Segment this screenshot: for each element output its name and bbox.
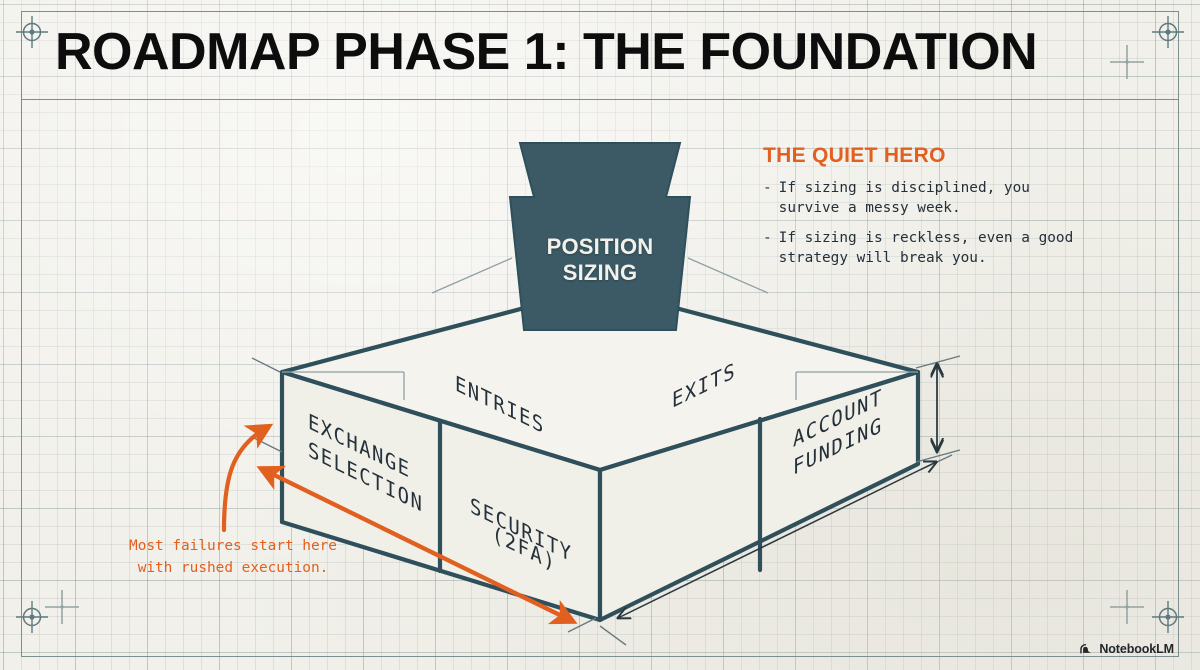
depth-extension-tick xyxy=(252,358,280,372)
upper-tier-group xyxy=(404,278,796,446)
note-bullet-2: - If sizing is reckless, even a good str… xyxy=(763,228,1098,269)
annotation-line-2: with rushed execution. xyxy=(98,558,368,580)
label-exchange-selection-1: EXCHANGE xyxy=(308,408,410,483)
base-tier-group xyxy=(282,288,918,620)
bullet-marker: - xyxy=(763,228,772,248)
note-bullet-1: - If sizing is disciplined, you survive … xyxy=(763,178,1098,219)
keystone-connector-left xyxy=(432,258,512,293)
failure-annotation: Most failures start here with rushed exe… xyxy=(98,536,368,579)
keystone-label-line1: POSITION xyxy=(505,234,695,260)
depth-extension-tick-2 xyxy=(254,438,282,452)
reg-top-left xyxy=(12,12,52,52)
label-exits: EXITS xyxy=(672,357,736,413)
width-dimension xyxy=(600,455,952,645)
quiet-hero-notes-panel: THE QUIET HERO - If sizing is discipline… xyxy=(763,144,1098,278)
height-dimension xyxy=(916,356,960,462)
label-entries: ENTRIES xyxy=(455,370,545,439)
notebooklm-spiral-icon xyxy=(1079,641,1094,656)
label-account-funding-2: FUNDING xyxy=(793,411,883,480)
label-security-1: SECURITY xyxy=(470,492,572,567)
header-divider-rule xyxy=(21,99,1179,100)
annotation-line-1: Most failures start here xyxy=(98,536,368,558)
base-right-face xyxy=(600,372,918,620)
block-face-entries xyxy=(404,372,600,446)
reg-bottom-right xyxy=(1148,597,1188,637)
base-tier-top-face xyxy=(282,288,918,470)
label-security-2: (2FA) xyxy=(492,520,556,576)
block-face-exits xyxy=(600,372,796,446)
infographic-canvas: ROADMAP PHASE 1: THE FOUNDATION xyxy=(0,0,1200,670)
crosshair-top-right xyxy=(1105,40,1149,84)
upper-tier-top-face xyxy=(404,278,796,418)
base-left-face xyxy=(282,372,600,620)
crosshair-bottom-left xyxy=(40,585,84,629)
page-title: ROADMAP PHASE 1: THE FOUNDATION xyxy=(55,26,1037,78)
bullet-marker: - xyxy=(763,178,772,198)
crosshair-bottom-right xyxy=(1105,585,1149,629)
keystone-label-line2: SIZING xyxy=(505,260,695,286)
label-account-funding-1: ACCOUNT xyxy=(793,383,883,452)
notebooklm-logo: NotebookLM xyxy=(1079,641,1174,656)
keystone-label: POSITION SIZING xyxy=(505,234,695,285)
bullet-text: If sizing is disciplined, you survive a … xyxy=(779,178,1098,219)
width-extension-tick-bottom xyxy=(568,618,596,632)
notes-heading: THE QUIET HERO xyxy=(763,144,1098,168)
reg-bottom-left xyxy=(12,597,52,637)
annotation-curved-arrow xyxy=(224,428,266,530)
reg-top-right xyxy=(1148,12,1188,52)
keystone-connector-right xyxy=(688,258,768,293)
label-exchange-selection-2: SELECTION xyxy=(308,436,423,517)
bullet-text: If sizing is reckless, even a good strat… xyxy=(779,228,1098,269)
notebooklm-wordmark: NotebookLM xyxy=(1099,642,1174,656)
